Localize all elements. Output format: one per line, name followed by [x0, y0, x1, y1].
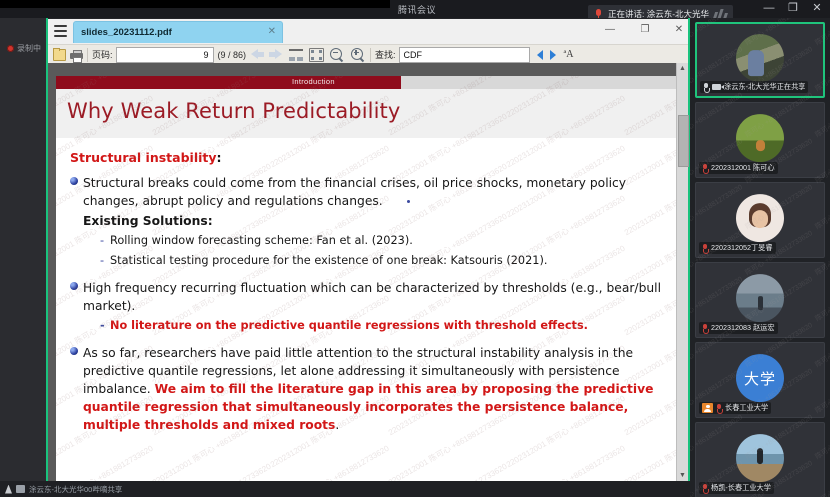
slide-page: Introduction Why Weak Return Predictabil… [56, 76, 678, 481]
sub-item-highlight: - No literature on the predictive quanti… [100, 318, 664, 335]
menu-icon[interactable] [54, 25, 67, 37]
arrow-right-icon[interactable] [269, 49, 282, 60]
slide-title: Why Weak Return Predictability [67, 99, 400, 123]
participant-tile[interactable]: 涂云东-北大光华正在共享 [695, 22, 825, 98]
match-case-icon[interactable]: ªA [564, 49, 574, 60]
page-label: 页码: [92, 48, 113, 61]
pdf-tab-label: slides_20231112.pdf [81, 27, 172, 38]
bullet-1-text: Structural breaks could come from the fi… [83, 176, 626, 208]
mic-muted-icon [702, 244, 708, 253]
participant-tile[interactable]: 2202312083 赵运宏 [695, 262, 825, 338]
participant-name-chip: 涂云东-北大光华正在共享 [700, 81, 808, 93]
avatar [736, 274, 784, 322]
pdf-page-viewport: Introduction Why Weak Return Predictabil… [48, 63, 688, 481]
window-close-button[interactable]: ✕ [806, 1, 828, 16]
slide-title-zone: Why Weak Return Predictability [56, 89, 678, 138]
participant-tile[interactable]: 2202312052丁旻睿 [695, 182, 825, 258]
app-icon[interactable] [5, 485, 12, 494]
sub-item-red-text: No literature on the predictive quantile… [110, 318, 588, 335]
dash-icon: - [100, 318, 110, 335]
participant-name: 2202312052丁旻睿 [711, 243, 773, 253]
participant-tile[interactable]: 杨凯-长春工业大学 [695, 422, 825, 497]
meeting-app-title: 腾讯会议 [398, 3, 436, 16]
mic-muted-icon [716, 404, 722, 413]
page-number-value: 9 [204, 50, 209, 60]
dash-icon: - [100, 233, 110, 250]
sub-item: - Statistical testing procedure for the … [100, 253, 664, 270]
recording-indicator: 录制中 [7, 43, 41, 54]
avatar [736, 34, 784, 82]
small-dot-icon [407, 200, 410, 203]
slide-lead-heading: Structural instability: [70, 150, 664, 165]
participant-tile[interactable]: 2202312001 陈可心 [695, 102, 825, 178]
find-input-value: CDF [404, 50, 423, 60]
recording-label: 录制中 [17, 43, 41, 54]
avatar: 大学 [736, 354, 784, 402]
pdf-maximize-button[interactable]: ❐ [636, 24, 654, 35]
host-icon [702, 403, 713, 413]
pdf-toolbar: 页码: 9 (9 / 86) 查找: CDF ªA [48, 44, 688, 64]
bullet-2-text: High frequency recurring fluctuation whi… [83, 279, 664, 315]
participant-name-chip: 2202312052丁旻睿 [699, 242, 776, 254]
page-number-input[interactable]: 9 [116, 47, 214, 63]
zoom-in-icon[interactable] [351, 48, 366, 62]
arrow-left-icon[interactable] [251, 49, 264, 60]
slide-section-label: Introduction [292, 77, 335, 86]
left-rail: 录制中 [0, 18, 46, 489]
camera-icon [712, 84, 721, 90]
bullet-1-subheading: Existing Solutions [83, 214, 208, 228]
slide-header-bar: Introduction [56, 76, 678, 89]
avatar [736, 114, 784, 162]
bullet-1-subheading-colon: : [208, 214, 213, 228]
bullet-2-icon [70, 279, 83, 315]
bullet-3-text-tail: . [335, 418, 339, 432]
mic-muted-icon [702, 164, 708, 173]
participant-name: 杨凯-长春工业大学 [711, 483, 771, 493]
taskbar-label: 涂云东-北大光华00哔嘀共享 [29, 484, 122, 495]
window-icon[interactable] [16, 485, 25, 493]
triangle-right-icon[interactable] [550, 50, 556, 60]
record-dot-icon [7, 45, 14, 52]
scrollbar-thumb[interactable] [678, 115, 689, 167]
slide-lead-colon: : [217, 150, 222, 165]
participant-name-chip: 长春工业大学 [699, 402, 771, 414]
window-minimize-button[interactable]: — [758, 1, 780, 16]
toolbar-separator-2 [370, 48, 371, 62]
pdf-tab[interactable]: slides_20231112.pdf ✕ [73, 21, 283, 43]
participant-name: 涂云东-北大光华正在共享 [724, 82, 805, 92]
sub-item: - Rolling window forecasting scheme: Fan… [100, 233, 664, 250]
taskbar: 涂云东-北大光华00哔嘀共享 [0, 481, 690, 497]
pdf-viewer-window: slides_20231112.pdf ✕ — ❐ ✕ 页码: 9 (9 / 8… [48, 19, 688, 481]
slide-body: Structural instability: Structural break… [56, 138, 678, 481]
bullet-3-icon [70, 344, 83, 434]
bullet-1-icon [70, 174, 83, 230]
participant-name-chip: 2202312083 赵运宏 [699, 322, 778, 334]
participant-name: 2202312083 赵运宏 [711, 323, 775, 333]
screen-root: 腾讯会议 正在讲话: 涂云东-北大光华 — ❐ ✕ 录制中 slides_202… [0, 0, 830, 497]
bullet-item: As so far, researchers have paid little … [70, 344, 664, 434]
mic-muted-icon [702, 324, 708, 333]
close-icon[interactable]: ✕ [268, 26, 276, 38]
scroll-up-icon[interactable]: ▲ [677, 63, 688, 74]
slide-lead-text: Structural instability [70, 150, 217, 165]
zoom-out-icon[interactable] [330, 48, 345, 62]
pdf-scrollbar[interactable]: ▲ ▼ [676, 63, 688, 481]
find-label: 查找: [375, 48, 396, 61]
scroll-down-icon[interactable]: ▼ [677, 470, 688, 481]
page-total-label: (9 / 86) [218, 50, 247, 60]
bullet-3-text-red: We aim to fill the literature gap in thi… [83, 382, 653, 432]
fit-width-icon[interactable] [289, 49, 303, 61]
bullet-item: High frequency recurring fluctuation whi… [70, 279, 664, 315]
pdf-minimize-button[interactable]: — [601, 24, 619, 35]
avatar [736, 194, 784, 242]
print-icon[interactable] [70, 50, 83, 61]
sub-item-text: Rolling window forecasting scheme: Fan e… [110, 233, 413, 250]
black-filler [0, 0, 390, 8]
fit-page-icon[interactable] [309, 48, 324, 62]
dash-icon: - [100, 253, 110, 270]
triangle-left-icon[interactable] [537, 50, 543, 60]
toolbar-separator [87, 48, 88, 62]
avatar [736, 434, 784, 482]
mic-muted-icon [702, 484, 708, 493]
open-file-icon[interactable] [53, 49, 66, 61]
pdf-titlebar: slides_20231112.pdf ✕ — ❐ ✕ [48, 19, 688, 44]
sub-item-text: Statistical testing procedure for the ex… [110, 253, 547, 270]
bullet-item: Structural breaks could come from the fi… [70, 174, 664, 230]
find-input[interactable]: CDF [399, 47, 530, 63]
participant-name: 长春工业大学 [725, 403, 768, 413]
participant-tile[interactable]: 大学 长春工业大学 [695, 342, 825, 418]
pdf-close-button[interactable]: ✕ [670, 24, 688, 35]
participant-name-chip: 2202312001 陈可心 [699, 162, 778, 174]
participant-name: 2202312001 陈可心 [711, 163, 775, 173]
participant-name-chip: 杨凯-长春工业大学 [699, 482, 774, 494]
window-maximize-button[interactable]: ❐ [782, 1, 804, 16]
mic-icon [703, 83, 709, 92]
participants-panel: 涂云东-北大光华正在共享 2202312001 陈可心 2202312052丁旻… [690, 18, 830, 497]
